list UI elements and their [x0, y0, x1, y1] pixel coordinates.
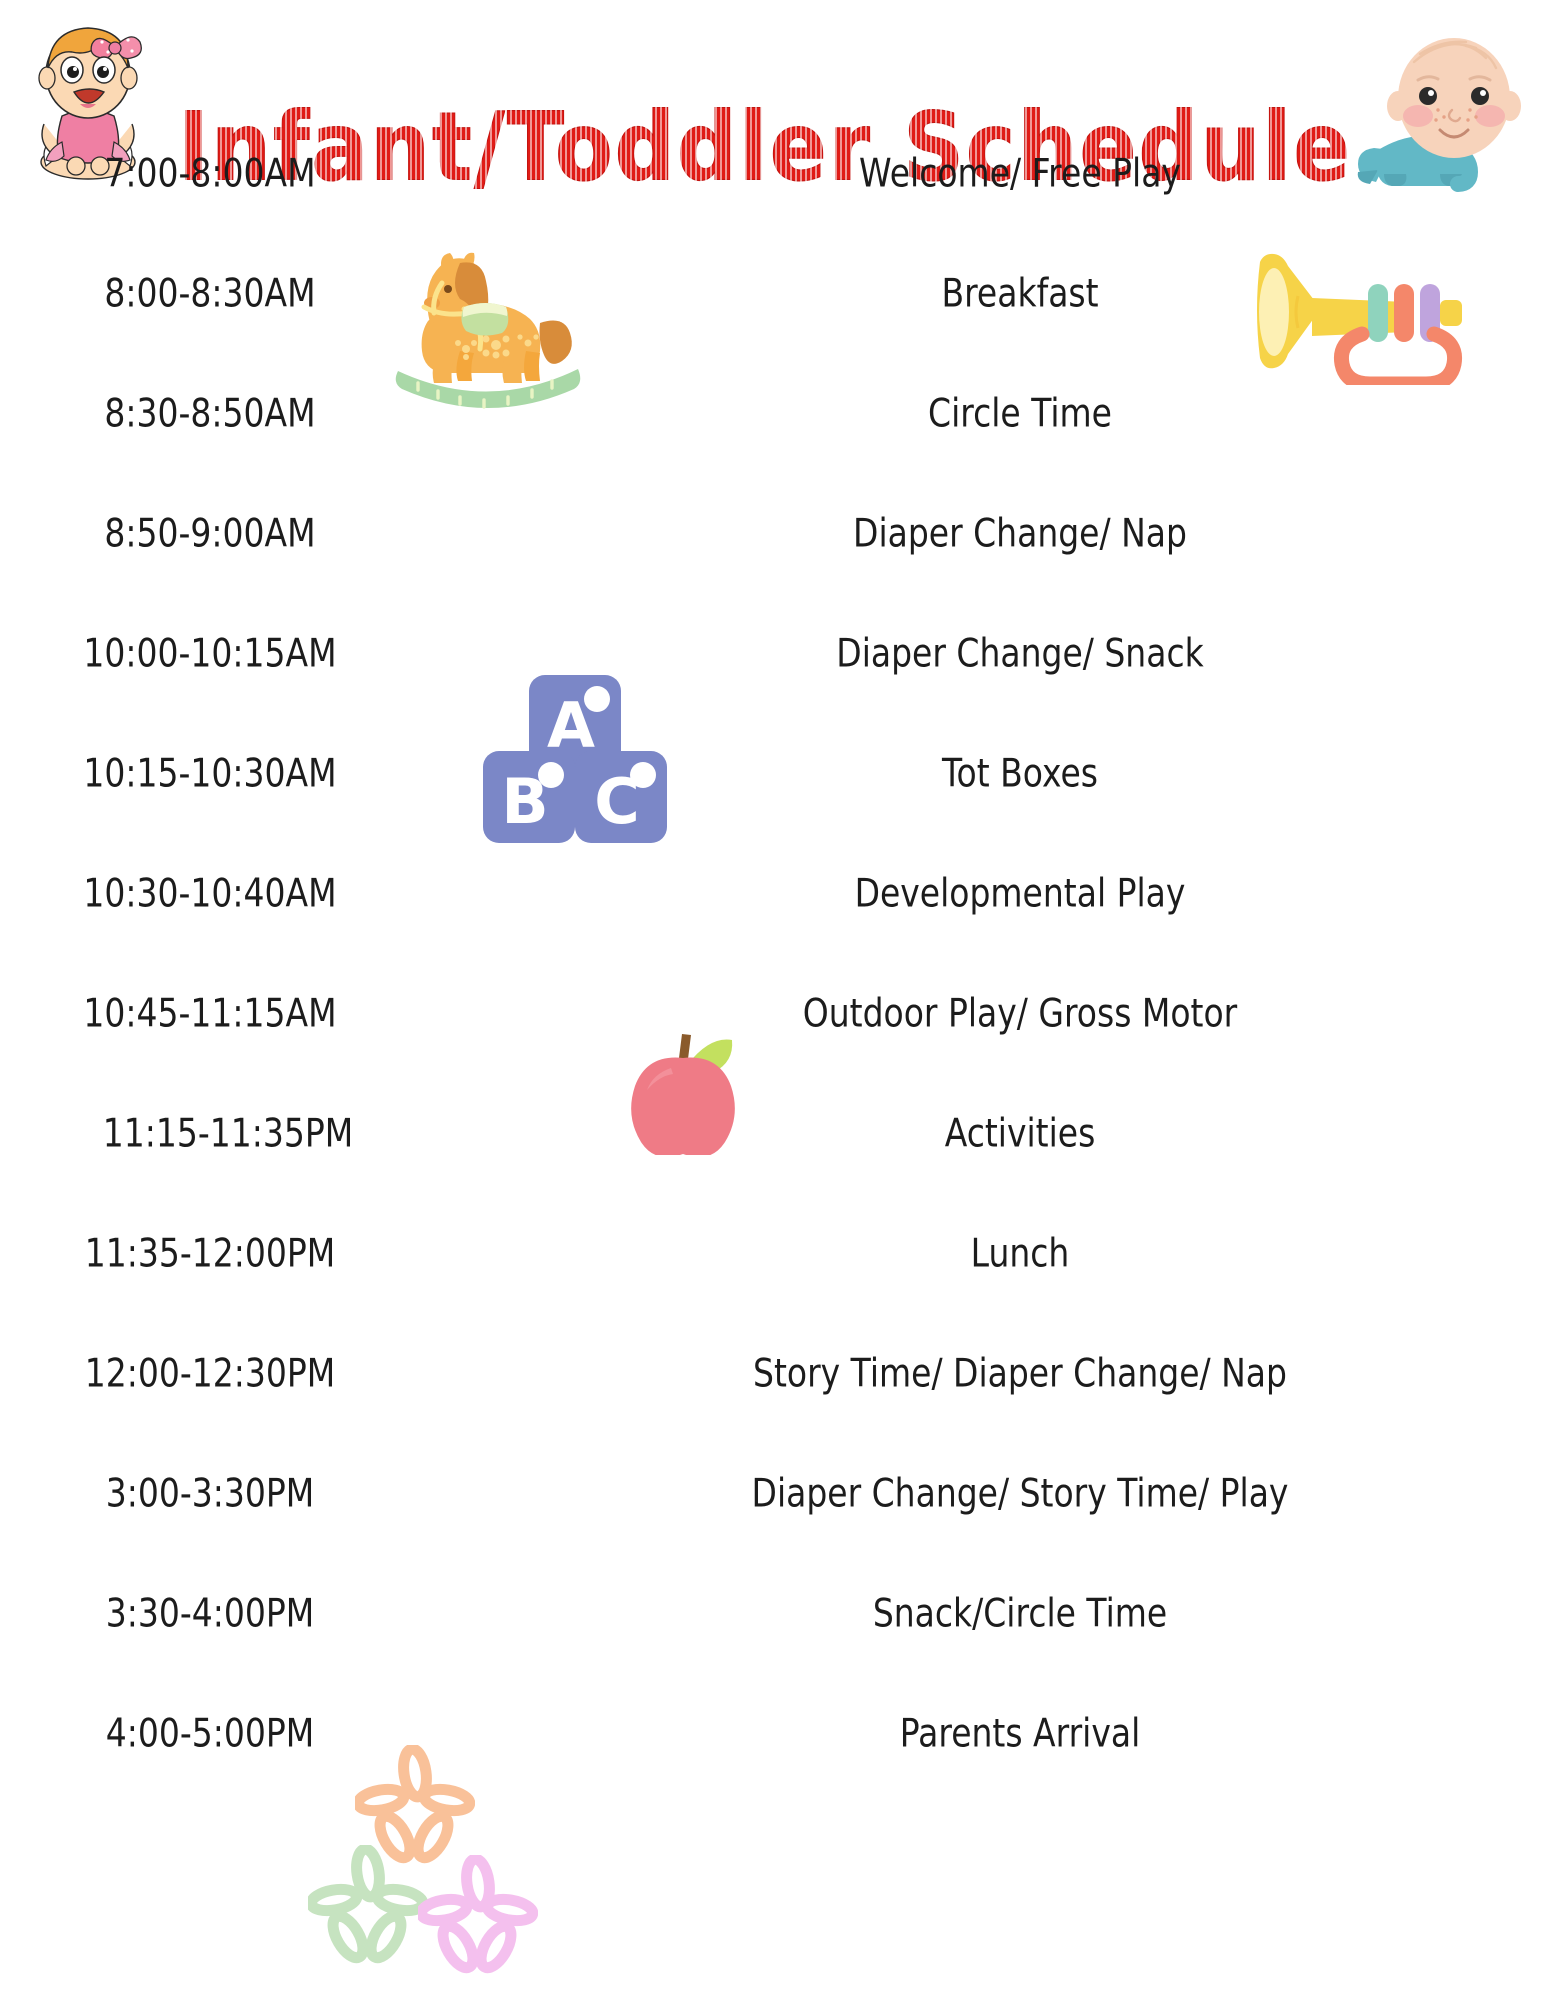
row-activity: Diaper Change/ Story Time/ Play	[560, 1470, 1480, 1516]
row-activity: Breakfast	[560, 270, 1480, 316]
schedule-row: 3:30-4:00PM Snack/Circle Time	[0, 1590, 1545, 1710]
row-time: 10:30-10:40AM	[60, 870, 360, 916]
schedule-row: 12:00-12:30PM Story Time/ Diaper Change/…	[0, 1350, 1545, 1470]
row-activity: Diaper Change/ Nap	[560, 510, 1480, 556]
row-activity: Snack/Circle Time	[560, 1590, 1480, 1636]
schedule-row: 11:35-12:00PM Lunch	[0, 1230, 1545, 1350]
schedule-row: 10:45-11:15AM Outdoor Play/ Gross Motor	[0, 990, 1545, 1110]
row-activity: Circle Time	[560, 390, 1480, 436]
row-activity: Developmental Play	[560, 870, 1480, 916]
row-time: 11:15-11:35PM	[78, 1110, 378, 1156]
title-bar: Infant/Toddler Schedule	[0, 28, 1545, 158]
schedule-row: 10:30-10:40AM Developmental Play	[0, 870, 1545, 990]
row-time: 11:35-12:00PM	[60, 1230, 360, 1276]
row-time: 3:00-3:30PM	[60, 1470, 360, 1516]
row-time: 8:30-8:50AM	[60, 390, 360, 436]
schedule-poster: Infant/Toddler Schedule	[0, 0, 1545, 2000]
row-activity: Activities	[560, 1110, 1480, 1156]
row-activity: Outdoor Play/ Gross Motor	[560, 990, 1480, 1036]
schedule-row: 10:15-10:30AM Tot Boxes	[0, 750, 1545, 870]
flower-green-icon	[308, 1845, 428, 1965]
row-activity: Tot Boxes	[560, 750, 1480, 796]
row-time: 8:00-8:30AM	[60, 270, 360, 316]
schedule-row: 7:00-8:00AM Welcome/ Free Play	[0, 150, 1545, 270]
row-time: 10:00-10:15AM	[60, 630, 360, 676]
schedule-row: 8:30-8:50AM Circle Time	[0, 390, 1545, 510]
row-activity: Lunch	[560, 1230, 1480, 1276]
row-activity: Diaper Change/ Snack	[560, 630, 1480, 676]
row-activity: Story Time/ Diaper Change/ Nap	[560, 1350, 1480, 1396]
schedule-row: 3:00-3:30PM Diaper Change/ Story Time/ P…	[0, 1470, 1545, 1590]
row-time: 10:45-11:15AM	[60, 990, 360, 1036]
row-time: 10:15-10:30AM	[60, 750, 360, 796]
row-time: 4:00-5:00PM	[60, 1710, 360, 1756]
row-activity: Welcome/ Free Play	[560, 150, 1480, 196]
row-time: 7:00-8:00AM	[60, 150, 360, 196]
row-activity: Parents Arrival	[560, 1710, 1480, 1756]
schedule-row: 4:00-5:00PM Parents Arrival	[0, 1710, 1545, 1830]
flower-pink-icon	[418, 1855, 538, 1975]
schedule-row: 10:00-10:15AM Diaper Change/ Snack	[0, 630, 1545, 750]
row-time: 3:30-4:00PM	[60, 1590, 360, 1636]
schedule-table: 7:00-8:00AM Welcome/ Free Play 8:00-8:30…	[0, 150, 1545, 1830]
schedule-row: 8:00-8:30AM Breakfast	[0, 270, 1545, 390]
schedule-row: 8:50-9:00AM Diaper Change/ Nap	[0, 510, 1545, 630]
row-time: 12:00-12:30PM	[60, 1350, 360, 1396]
row-time: 8:50-9:00AM	[60, 510, 360, 556]
schedule-row: 11:15-11:35PM Activities	[0, 1110, 1545, 1230]
